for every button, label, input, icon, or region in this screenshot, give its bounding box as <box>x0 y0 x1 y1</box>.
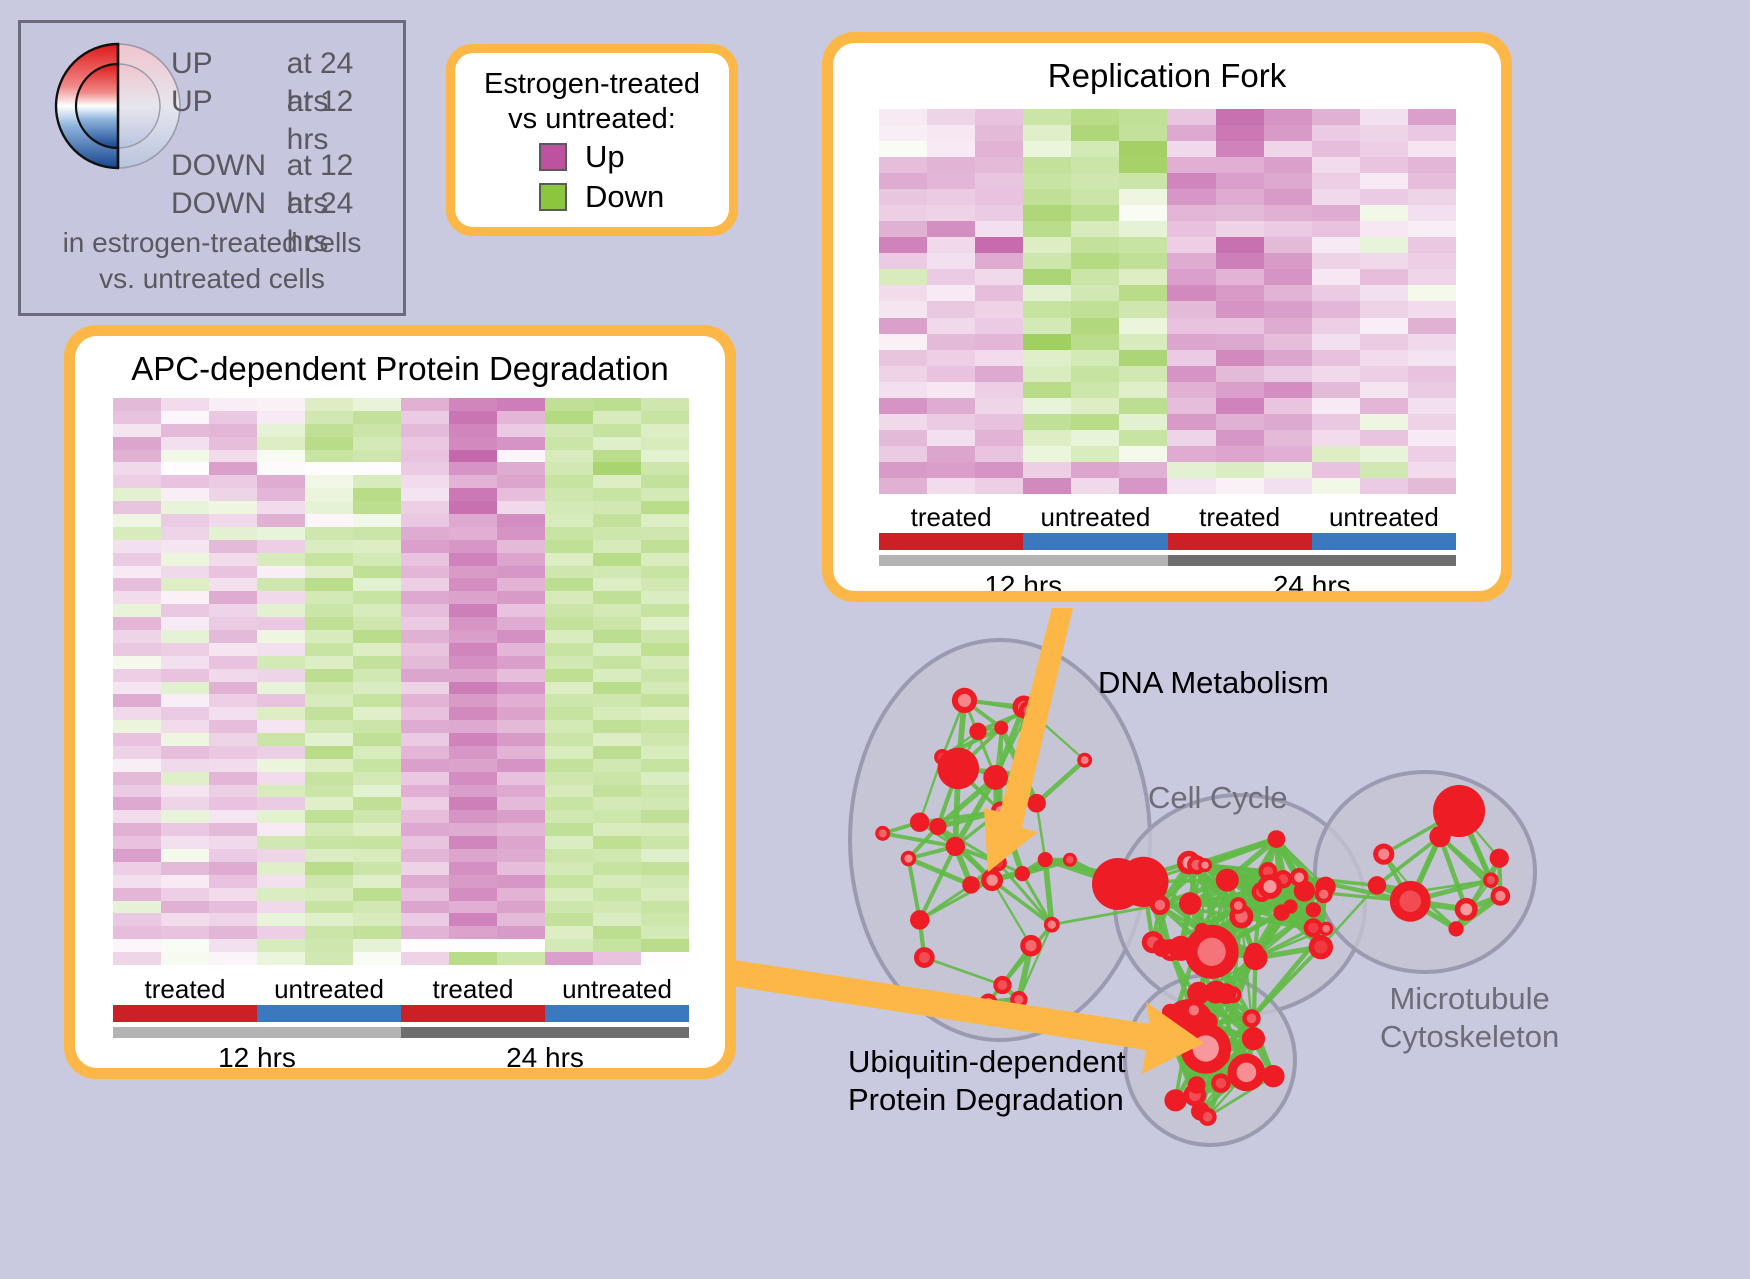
network-edge <box>920 822 938 826</box>
network-edge <box>1282 907 1291 913</box>
replication-fork-sample-annotation: treated untreated treated untreated 12 h… <box>879 501 1456 591</box>
network-edge <box>1241 887 1270 917</box>
network-edge <box>1276 839 1290 906</box>
network-edge <box>1189 1025 1221 1083</box>
network-edge <box>1160 904 1190 905</box>
network-edge <box>1070 860 1118 884</box>
network-edge <box>955 846 992 880</box>
replication-fork-card: Replication Fork treated untreated treat… <box>822 32 1512 602</box>
network-edge <box>1276 839 1325 887</box>
network-edge <box>1377 885 1415 891</box>
network-node <box>1373 844 1394 865</box>
network-edge <box>1304 891 1323 894</box>
network-edge <box>1283 879 1313 910</box>
network-edge <box>1268 871 1313 927</box>
network-edge <box>1212 916 1242 951</box>
network-edge <box>1440 811 1459 837</box>
network-edge <box>1160 863 1189 905</box>
apc-timepoint-bar <box>113 1027 689 1038</box>
network-node <box>1483 872 1499 888</box>
network-edge <box>1208 1022 1221 1084</box>
network-edge <box>1190 865 1196 904</box>
network-edge <box>1268 871 1299 877</box>
network-edge <box>1181 946 1223 949</box>
network-node <box>1229 904 1253 928</box>
network-edge <box>1283 879 1324 894</box>
network-edge <box>1189 1025 1218 1055</box>
network-edge <box>1001 728 1036 803</box>
network-edge <box>1276 839 1299 877</box>
apc-timepoint-label: 24 hrs <box>401 1038 689 1068</box>
network-edge <box>1262 892 1321 947</box>
network-node <box>1195 923 1209 937</box>
network-edge <box>1189 1025 1197 1085</box>
network-edge <box>1223 916 1241 945</box>
network-edge <box>1227 880 1255 958</box>
network-edge <box>1223 887 1270 946</box>
color-key-direction: DOWN <box>171 185 287 223</box>
network-edge <box>1200 1072 1246 1111</box>
network-edge <box>1241 916 1313 927</box>
network-edge <box>942 757 1000 811</box>
network-edge <box>1195 1055 1218 1095</box>
network-edge <box>1160 905 1162 948</box>
rf-group-labels: treated untreated treated untreated <box>879 501 1456 533</box>
network-node <box>1319 922 1333 936</box>
network-edge <box>1212 880 1228 952</box>
network-edge <box>1195 1048 1206 1095</box>
replication-fork-callout-arrow-icon <box>984 608 1073 872</box>
color-key-rows: UP at 24 hrs UP at 12 hrs DOWN at 12 hrs… <box>171 45 403 223</box>
network-edge <box>1181 904 1190 949</box>
network-edge <box>1255 910 1314 953</box>
network-edge <box>1171 906 1239 951</box>
network-edge <box>1262 892 1291 907</box>
network-edge <box>1283 879 1326 928</box>
network-edge <box>1153 905 1160 942</box>
network-edge <box>1171 950 1212 952</box>
network-edge <box>958 768 1018 774</box>
network-edge <box>955 846 998 862</box>
network-edge <box>1221 1039 1254 1083</box>
network-edge <box>964 700 1023 706</box>
network-node <box>1019 701 1039 721</box>
network-edge <box>1227 880 1238 905</box>
network-node <box>1197 957 1213 973</box>
network-edge <box>1253 958 1255 1039</box>
network-cluster-halo <box>1115 795 1365 1015</box>
network-edge <box>1238 891 1304 906</box>
up-down-ring-diagram <box>53 41 183 171</box>
network-edge <box>908 846 955 858</box>
network-edge <box>1218 1039 1254 1055</box>
network-edge <box>1160 905 1171 950</box>
network-edge <box>1241 916 1255 958</box>
network-edge <box>1216 992 1226 994</box>
network-edge <box>1153 863 1189 943</box>
network-edge <box>1238 906 1290 907</box>
network-edge <box>1190 892 1261 904</box>
legend-title-line2: vs untreated: <box>465 102 719 137</box>
network-edge <box>1282 913 1314 928</box>
network-edge <box>1283 877 1299 879</box>
network-node <box>1015 866 1030 881</box>
network-edge <box>1197 1076 1274 1085</box>
network-node <box>1204 981 1227 1004</box>
cluster-label-microtubule-cytoskeleton: Microtubule Cytoskeleton <box>1380 980 1559 1056</box>
network-edge <box>1313 887 1325 910</box>
network-edge <box>1170 1033 1195 1095</box>
network-edge <box>1304 891 1320 947</box>
color-key-row: UP at 24 hrs <box>171 45 403 83</box>
network-edge <box>1313 910 1321 947</box>
rf-timepoint-bar <box>879 555 1456 566</box>
network-node <box>983 765 1008 790</box>
cluster-label-dna-metabolism: DNA Metabolism <box>1098 664 1329 702</box>
network-edge <box>996 774 1019 777</box>
network-edge <box>1052 905 1160 925</box>
network-node <box>1224 986 1241 1003</box>
network-edge <box>1162 946 1223 948</box>
network-edge <box>1456 880 1491 929</box>
network-edge <box>1002 925 1051 985</box>
network-edge <box>1205 906 1238 965</box>
network-edge <box>1197 1048 1206 1085</box>
network-edge <box>1197 839 1277 865</box>
network-edge <box>1255 947 1320 958</box>
network-edge <box>1255 913 1282 953</box>
network-edge <box>1410 901 1466 909</box>
network-edge <box>1143 882 1170 950</box>
network-node <box>1315 877 1335 897</box>
network-node <box>929 818 946 835</box>
network-edge <box>1238 887 1270 906</box>
network-edge <box>1045 860 1052 925</box>
network-edge <box>1456 896 1500 929</box>
network-node <box>1187 855 1206 874</box>
network-edge <box>1195 1076 1274 1095</box>
network-edge <box>1212 952 1256 958</box>
network-edge <box>1238 871 1268 905</box>
network-edge <box>1227 880 1241 916</box>
network-edge <box>958 728 1001 769</box>
network-edge <box>1153 942 1181 948</box>
network-node <box>1306 902 1321 917</box>
network-edge <box>1205 839 1276 865</box>
network-node <box>993 976 1011 994</box>
network-edge <box>1227 880 1254 952</box>
network-edge <box>1199 993 1254 1039</box>
network-edge <box>938 827 955 847</box>
network-node <box>1063 853 1077 867</box>
network-edge <box>1170 1010 1193 1012</box>
network-edge <box>1262 871 1268 892</box>
network-edge <box>1171 930 1202 950</box>
network-edge <box>1181 948 1254 1038</box>
color-key-direction: UP <box>171 83 287 121</box>
network-edge <box>1199 880 1228 993</box>
network-edge <box>1255 907 1291 953</box>
network-edge <box>1491 858 1499 880</box>
apc-degradation-heatmap <box>113 398 689 965</box>
network-edge <box>1282 910 1314 913</box>
network-edge <box>1176 1072 1247 1100</box>
network-edge <box>1199 952 1212 993</box>
network-edge <box>1216 992 1233 995</box>
network-edge <box>1001 774 1019 811</box>
apc-degradation-card: APC-dependent Protein Degradation treate… <box>64 325 736 1079</box>
network-edge <box>1208 916 1241 1021</box>
up-down-legend-title: Estrogen-treated vs untreated: <box>465 67 719 137</box>
network-edge <box>1170 994 1226 1033</box>
network-edge <box>883 833 956 846</box>
network-edge <box>938 768 958 826</box>
network-edge <box>1170 1018 1252 1032</box>
network-node <box>1205 1042 1230 1067</box>
network-edge <box>1189 1025 1206 1049</box>
network-edge <box>992 874 1022 881</box>
network-edge <box>1206 1039 1254 1049</box>
network-edge <box>1189 863 1238 906</box>
network-edge <box>1440 837 1500 896</box>
network-edge <box>1199 993 1209 1021</box>
network-edge <box>1212 906 1239 952</box>
micro-label-line1: Microtubule <box>1380 980 1559 1018</box>
network-edge <box>958 768 1000 811</box>
network-edge <box>1199 993 1226 994</box>
network-node <box>1077 753 1092 768</box>
network-edge <box>1268 871 1283 879</box>
network-edge <box>1238 839 1276 905</box>
network-edge <box>992 863 998 881</box>
network-node <box>962 876 980 894</box>
rf-treatment-segment <box>1312 533 1456 550</box>
legend-title-line1: Estrogen-treated <box>465 67 719 102</box>
down-color-swatch-icon <box>539 183 567 211</box>
network-edge <box>1205 865 1283 879</box>
network-node <box>1230 897 1247 914</box>
network-edge <box>1262 887 1270 892</box>
network-edge <box>1321 894 1324 947</box>
network-edge <box>996 711 1029 778</box>
network-edge <box>1252 1018 1274 1076</box>
network-node <box>1243 946 1267 970</box>
network-edge <box>1226 994 1252 1019</box>
network-edge <box>1181 930 1202 948</box>
network-node <box>1273 904 1289 920</box>
network-edge <box>1241 879 1283 916</box>
network-edge <box>1253 1039 1273 1076</box>
network-edge <box>1246 1018 1251 1072</box>
network-edge <box>942 757 958 768</box>
network-edge <box>964 700 1028 710</box>
network-edge <box>988 946 1030 1003</box>
network-edge <box>1189 863 1202 930</box>
color-key-direction: UP <box>171 45 287 83</box>
network-edge <box>996 707 1024 778</box>
network-edge <box>1143 865 1196 882</box>
network-edge <box>1197 865 1242 917</box>
network-edge <box>1313 928 1321 947</box>
apc-group-label: untreated <box>257 973 401 1005</box>
network-node <box>1491 886 1511 906</box>
network-edge <box>1299 877 1324 894</box>
legend-item-up: Up <box>539 137 719 177</box>
network-edge <box>1208 1022 1273 1077</box>
network-edge <box>1205 952 1254 965</box>
network-edge <box>1197 1072 1247 1085</box>
network-edge <box>938 777 996 826</box>
network-node <box>981 869 1003 891</box>
network-edge <box>1170 992 1215 1012</box>
network-edge <box>1200 1048 1205 1111</box>
network-edge <box>1223 871 1268 945</box>
color-key-row: DOWN at 12 hrs <box>171 147 403 185</box>
network-edge <box>1262 887 1326 892</box>
network-edge <box>1176 1083 1221 1100</box>
network-edge <box>1291 907 1327 929</box>
network-edge <box>1255 952 1256 958</box>
network-edge <box>1162 948 1171 950</box>
network-edge <box>1241 839 1276 916</box>
network-edge <box>1252 1018 1254 1038</box>
network-node <box>1150 895 1170 915</box>
network-edge <box>1195 1095 1201 1111</box>
network-edge <box>1176 1095 1195 1100</box>
network-node <box>1184 1001 1203 1020</box>
network-edge <box>1160 880 1227 905</box>
network-edge <box>1171 916 1242 950</box>
network-edge <box>1299 877 1313 910</box>
network-edge <box>1143 882 1202 930</box>
apc-timepoint-label: 12 hrs <box>113 1038 401 1068</box>
network-edge <box>883 822 920 833</box>
network-edge <box>1255 928 1313 958</box>
network-node <box>1445 791 1469 815</box>
apc-treatment-segment <box>113 1005 257 1022</box>
network-edge <box>1212 952 1233 995</box>
network-edge <box>988 985 1002 1003</box>
network-edge <box>920 757 942 822</box>
network-node <box>1191 1102 1210 1121</box>
network-edge <box>1238 894 1323 905</box>
network-edge <box>1190 904 1205 966</box>
network-edge <box>1276 839 1313 910</box>
network-edge <box>1190 871 1268 903</box>
network-node <box>901 851 917 867</box>
color-key-direction: DOWN <box>171 147 287 185</box>
rf-treatment-segment <box>1168 533 1312 550</box>
network-edge <box>1160 865 1197 905</box>
network-edge <box>1019 925 1052 1000</box>
network-edge <box>964 700 1001 727</box>
network-edge <box>1170 958 1255 1012</box>
network-edge <box>1170 1012 1217 1054</box>
network-edge <box>1199 993 1218 1055</box>
network-edge <box>1171 948 1181 950</box>
network-edge <box>1212 946 1223 952</box>
network-edge <box>1202 930 1255 952</box>
network-node <box>1044 917 1060 933</box>
network-node <box>1259 862 1278 881</box>
network-edge <box>1282 887 1326 913</box>
network-edge <box>1045 860 1118 884</box>
network-edge <box>1299 877 1410 901</box>
network-edge <box>1190 887 1270 904</box>
network-edge <box>1190 880 1227 903</box>
network-node <box>979 994 997 1012</box>
network-edge <box>1171 950 1209 1021</box>
network-edge <box>1194 1010 1195 1095</box>
network-edge <box>1153 942 1205 965</box>
network-node <box>1162 1004 1179 1021</box>
network-node <box>1274 870 1292 888</box>
network-edge <box>1170 1012 1253 1038</box>
network-edge <box>1377 885 1410 901</box>
network-edge <box>996 728 1002 778</box>
network-node <box>1020 935 1041 956</box>
network-edge <box>908 859 971 885</box>
network-node <box>1262 1065 1284 1087</box>
network-edge <box>1205 865 1262 892</box>
network-edge <box>1170 930 1202 1033</box>
network-edge <box>988 1000 1018 1003</box>
color-key-caption-line1: in estrogen-treated cells <box>21 225 403 261</box>
network-node <box>1216 983 1237 1004</box>
network-edge <box>1143 882 1152 942</box>
network-edge <box>1456 909 1466 929</box>
network-edge <box>1205 865 1212 952</box>
network-edge <box>1197 865 1223 946</box>
network-edge <box>1170 1012 1205 1048</box>
network-edge <box>996 777 1001 811</box>
network-edge <box>1206 1048 1274 1076</box>
network-edge <box>1202 865 1205 930</box>
network-edge <box>1459 811 1499 858</box>
network-edge <box>1170 992 1216 1033</box>
network-edge <box>996 777 1037 803</box>
apc-treatment-segment <box>545 1005 689 1022</box>
network-edge <box>1181 948 1233 994</box>
network-edge <box>955 811 1000 846</box>
apc-treatment-bar <box>113 1005 689 1022</box>
network-edge <box>1199 992 1216 993</box>
network-edge <box>955 846 971 884</box>
network-edge <box>1291 907 1314 910</box>
network-edge <box>1268 871 1326 886</box>
color-key-row: UP at 12 hrs <box>171 83 403 121</box>
network-edge <box>1189 952 1212 1025</box>
network-edge <box>1313 894 1323 928</box>
apc-group-label: treated <box>113 973 257 1005</box>
network-edge <box>1170 1033 1201 1111</box>
network-edge <box>1019 946 1031 1000</box>
network-edge <box>1202 930 1223 946</box>
network-edge <box>1221 1018 1252 1083</box>
network-edge <box>942 731 978 757</box>
network-edge <box>1282 913 1327 929</box>
network-edge <box>1299 877 1377 885</box>
network-edge <box>955 777 995 846</box>
network-edge <box>1212 952 1255 953</box>
rf-timepoint-label: 24 hrs <box>1168 566 1457 591</box>
network-node <box>1211 1073 1231 1093</box>
network-edge <box>1268 871 1326 928</box>
network-edge <box>1223 946 1255 953</box>
network-edge <box>1170 1012 1251 1018</box>
network-edge <box>1202 880 1227 930</box>
network-edge <box>1304 891 1313 928</box>
